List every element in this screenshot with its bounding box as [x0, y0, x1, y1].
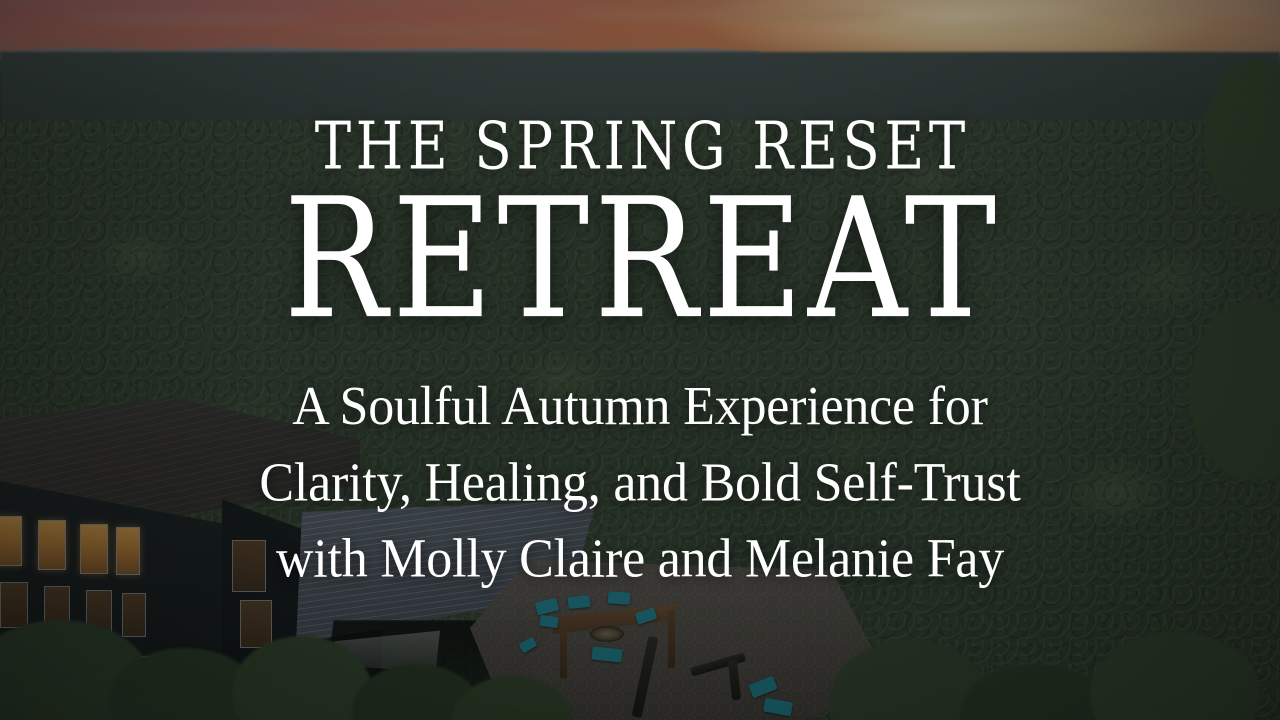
pergola-post — [560, 622, 567, 678]
retreat-promo-slide: THE SPRING RESET RETREAT A Soulful Autum… — [0, 0, 1280, 720]
title-block: THE SPRING RESET RETREAT A Soulful Autum… — [0, 0, 1280, 589]
eyebrow-title: THE SPRING RESET — [77, 0, 1203, 179]
lit-window — [240, 600, 272, 648]
lit-window — [122, 593, 146, 637]
subtitle-line-2: Clarity, Healing, and Bold Self-Trust — [0, 445, 1280, 521]
subtitle-line-1: A Soulful Autumn Experience for — [0, 369, 1280, 445]
fire-pit — [590, 626, 624, 642]
subtitle-line-3: with Molly Claire and Melanie Fay — [0, 521, 1280, 597]
subtitle-block: A Soulful Autumn Experience for Clarity,… — [0, 318, 1280, 597]
pergola-post — [668, 610, 675, 668]
headline-title: RETREAT — [45, 165, 1235, 335]
adirondack-chair — [539, 615, 558, 628]
